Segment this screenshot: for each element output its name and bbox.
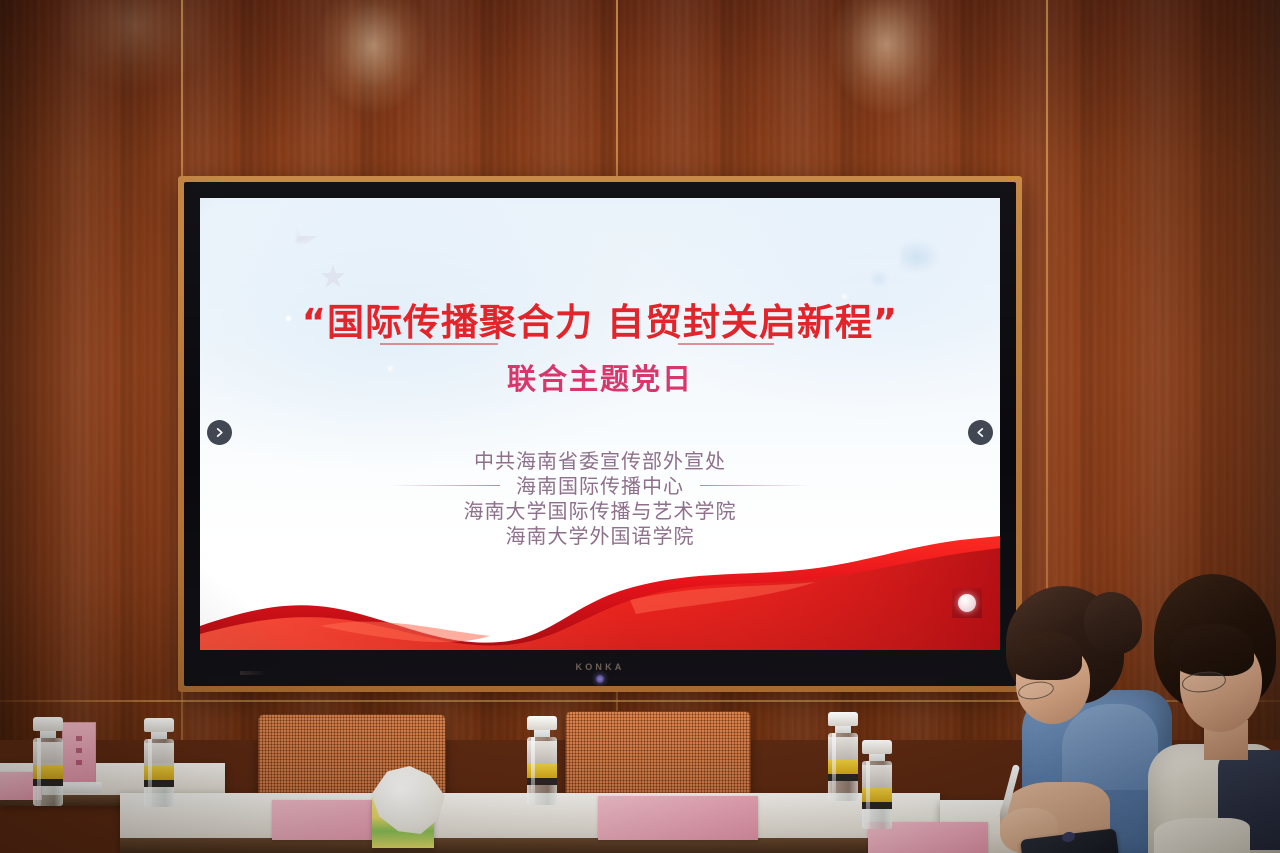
slide-content: “国际传播聚合力 自贸封关启新程” 联合主题党日 中共海南省委宣传部外宣处 海南… <box>200 198 1000 650</box>
display-brand-logo: KONKA <box>178 662 1022 672</box>
bottle-cap <box>33 717 63 731</box>
organizer-line: 海南大学国际传播与艺术学院 <box>200 499 1000 524</box>
organizer-line: 中共海南省委宣传部外宣处 <box>200 449 1000 474</box>
power-indicator-light <box>596 675 604 683</box>
bottle-body <box>862 761 892 829</box>
bottle-highlight <box>148 739 152 807</box>
name-card-text <box>76 736 82 767</box>
display-screen: “国际传播聚合力 自贸封关启新程” 联合主题党日 中共海南省委宣传部外宣处 海南… <box>200 198 1000 650</box>
bottle-highlight <box>531 737 535 805</box>
attendee-hair-fringe <box>1010 632 1082 680</box>
slide-subtitle: 联合主题党日 <box>200 356 1000 398</box>
bottle-neck <box>869 754 885 761</box>
bottle-neck <box>534 730 550 737</box>
dove-watermark-icon <box>900 238 942 272</box>
chevron-right-icon <box>214 427 225 438</box>
attendee-ponytail <box>1084 592 1142 654</box>
slide-next-button[interactable] <box>968 420 993 445</box>
water-bottle <box>828 712 858 801</box>
red-ribbon-graphic <box>200 530 1000 650</box>
bottle-cap <box>862 740 892 754</box>
ribbon-wave-shape <box>200 530 1000 650</box>
name-card <box>62 722 96 784</box>
attendee-arm <box>1154 818 1250 853</box>
slide-title: “国际传播聚合力 自贸封关启新程” <box>200 292 1000 346</box>
star-watermark-icon <box>272 220 318 266</box>
bottle-neck <box>151 732 167 739</box>
water-bottle <box>862 740 892 829</box>
title-underline <box>678 343 774 345</box>
attendee-shoulder <box>1062 704 1158 790</box>
paper-pink <box>598 796 758 840</box>
chevron-left-icon <box>975 427 986 438</box>
bottle-body <box>144 739 174 807</box>
presentation-display: “国际传播聚合力 自贸封关启新程” 联合主题党日 中共海南省委宣传部外宣处 海南… <box>178 176 1022 692</box>
bottle-highlight <box>832 733 836 801</box>
bottle-cap <box>144 718 174 732</box>
bottle-body <box>33 738 63 806</box>
water-bottle <box>527 716 557 805</box>
bottle-highlight <box>866 761 870 829</box>
attendee-hair-fringe <box>1170 624 1254 676</box>
water-bottle <box>144 718 174 807</box>
attendee-foreground-left <box>1000 586 1160 853</box>
bottle-body <box>828 733 858 801</box>
organizer-line: 海南国际传播中心 <box>200 474 1000 499</box>
ribbon-badge-dot <box>958 594 976 612</box>
title-underline <box>380 343 498 345</box>
attendee-foreground-right <box>1148 574 1280 853</box>
table-edge <box>120 838 940 853</box>
bottle-neck <box>40 731 56 738</box>
name-card-face <box>62 722 96 784</box>
bottle-cap <box>527 716 557 730</box>
star-watermark-icon <box>320 264 346 290</box>
water-bottle <box>33 717 63 806</box>
bottle-body <box>527 737 557 805</box>
meeting-room-scene: “国际传播聚合力 自贸封关启新程” 联合主题党日 中共海南省委宣传部外宣处 海南… <box>0 0 1280 853</box>
chair <box>565 711 751 803</box>
slide-prev-button[interactable] <box>207 420 232 445</box>
bottle-neck <box>835 726 851 733</box>
bottle-highlight <box>37 738 41 806</box>
bottle-cap <box>828 712 858 726</box>
dove-watermark-icon <box>868 270 890 288</box>
